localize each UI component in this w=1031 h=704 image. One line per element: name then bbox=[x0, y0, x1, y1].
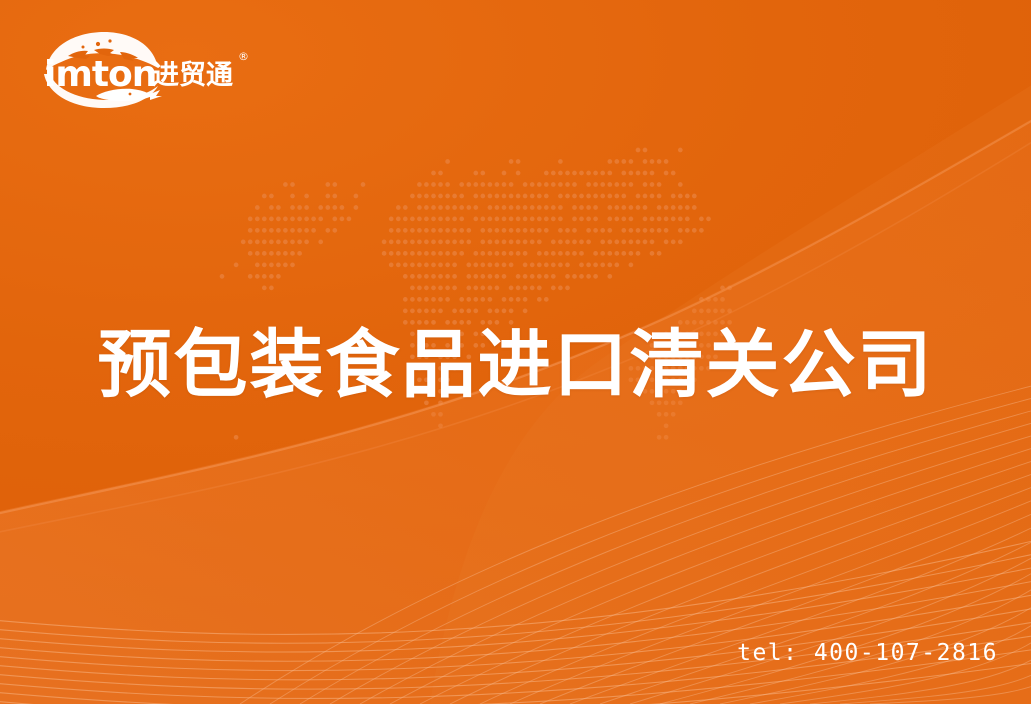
telephone-text: tel: 400-107-2816 bbox=[737, 640, 998, 666]
page-title: 预包装食品进口清关公司 bbox=[0, 322, 1031, 408]
trademark-icon: ® bbox=[238, 50, 249, 63]
logo-chinese-name: 进贸通 bbox=[152, 60, 233, 91]
logo-wordmark: imton bbox=[44, 54, 156, 95]
brand-logo[interactable]: imton 进贸通 ® bbox=[38, 30, 258, 110]
promo-banner: imton 进贸通 ® 预包装食品进口清关公司 tel: 400-107-281… bbox=[0, 0, 1031, 704]
